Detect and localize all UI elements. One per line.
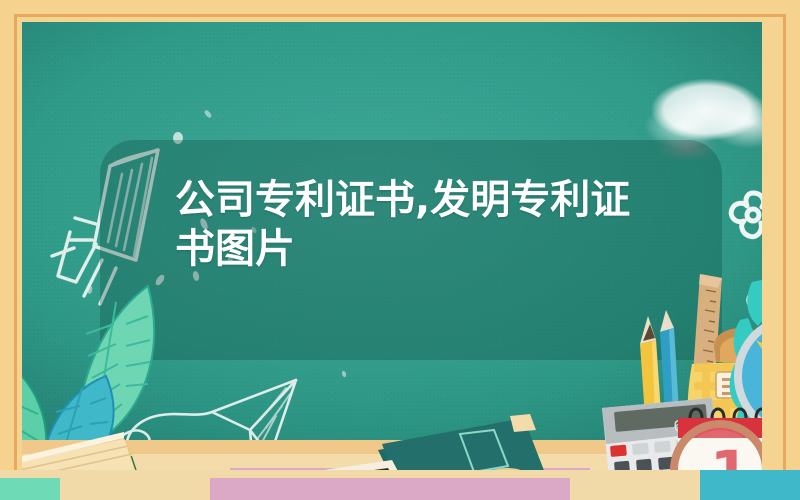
chalkboard: 公司专利证书,发明专利证书图片 xyxy=(22,22,762,500)
leaf-foreground-right xyxy=(700,470,800,500)
leaf-foreground-left xyxy=(0,478,60,500)
desk-mat-pink-foreground xyxy=(210,478,570,500)
banner-image: 公司专利证书,发明专利证书图片 xyxy=(0,0,800,500)
page-title: 公司专利证书,发明专利证书图片 xyxy=(175,176,645,274)
